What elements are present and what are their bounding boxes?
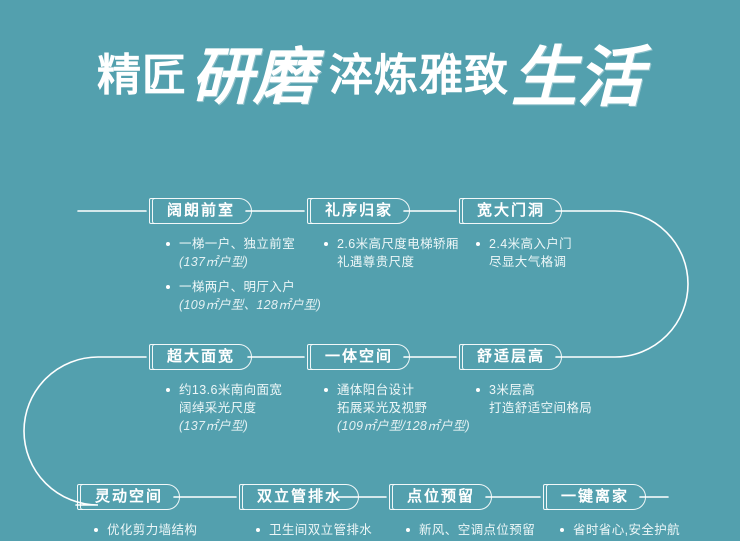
bullet-main: 优化剪力墙结构 [107, 523, 197, 537]
feature-title-chip[interactable]: 阔朗前室 [152, 198, 252, 224]
feature-bullet-list: 约13.6米南向面宽 阔绰采光尺度 (137㎡户型) [166, 381, 282, 435]
list-item: 一梯一户、独立前室 (137㎡户型) [166, 235, 321, 271]
bullet-line2: 打造舒适空间格局 [489, 399, 592, 417]
feature-title-chip[interactable]: 超大面宽 [152, 344, 252, 370]
feature-bullet-list: 卫生间双立管排水 有效防止异味 [256, 521, 372, 541]
feature-bullet-list: 2.4米高入户门 尽显大气格调 [476, 235, 572, 271]
list-item: 一梯两户、明厅入户 (109㎡户型、128㎡户型) [166, 278, 321, 314]
bullet-line2: 礼遇尊贵尺度 [337, 253, 459, 271]
list-item: 2.4米高入户门 尽显大气格调 [476, 235, 572, 271]
headline-segment-1: 精匠 [97, 54, 187, 98]
list-item: 3米层高 打造舒适空间格局 [476, 381, 592, 417]
bullet-main: 卫生间双立管排水 [269, 523, 372, 537]
bullet-line2: 拓展采光及视野 [337, 399, 470, 417]
bullet-main: 2.6米高尺度电梯轿厢 [337, 237, 459, 251]
bullet-main: 3米层高 [489, 383, 535, 397]
feature-bullet-list: 优化剪力墙结构 实现空间多变 [94, 521, 197, 541]
feature-cell-chaodamiankuan[interactable]: 超大面宽 约13.6米南向面宽 阔绰采光尺度 (137㎡户型) [152, 344, 282, 442]
feature-title-chip[interactable]: 一键离家 [546, 484, 646, 510]
list-item: 省时省心,安全护航 [560, 521, 680, 539]
bullet-line2: 尽显大气格调 [489, 253, 572, 271]
bullet-sub: (137㎡户型) [179, 253, 321, 271]
bullet-main: 省时省心,安全护航 [573, 523, 680, 537]
feature-title-chip[interactable]: 双立管排水 [242, 484, 359, 510]
feature-cell-lixuguijia[interactable]: 礼序归家 2.6米高尺度电梯轿厢 礼遇尊贵尺度 [310, 198, 459, 278]
bullet-sub: (109㎡户型/128㎡户型) [337, 417, 470, 435]
feature-title-chip[interactable]: 宽大门洞 [462, 198, 562, 224]
headline-segment-2: 研磨 [191, 47, 315, 109]
feature-bullet-list: 省时省心,安全护航 [560, 521, 680, 539]
list-item: 新风、空调点位预留 便于后期装修 [406, 521, 535, 541]
feature-title-chip[interactable]: 礼序归家 [310, 198, 410, 224]
feature-cell-yijianlijia[interactable]: 一键离家 省时省心,安全护航 [546, 484, 680, 541]
bullet-line2: 阔绰采光尺度 [179, 399, 282, 417]
bullet-sub: (109㎡户型、128㎡户型) [179, 296, 321, 314]
feature-bullet-list: 2.6米高尺度电梯轿厢 礼遇尊贵尺度 [324, 235, 459, 271]
list-item: 2.6米高尺度电梯轿厢 礼遇尊贵尺度 [324, 235, 459, 271]
feature-cell-kuolangqianshi[interactable]: 阔朗前室 一梯一户、独立前室 (137㎡户型) 一梯两户、明厅入户 (109㎡户… [152, 198, 321, 321]
list-item: 约13.6米南向面宽 阔绰采光尺度 (137㎡户型) [166, 381, 282, 435]
list-item: 卫生间双立管排水 有效防止异味 [256, 521, 372, 541]
page-title: 精匠研磨淬炼雅致生活 [0, 36, 740, 132]
feature-cell-kuandamendong[interactable]: 宽大门洞 2.4米高入户门 尽显大气格调 [462, 198, 572, 278]
bullet-sub: (137㎡户型) [179, 417, 282, 435]
poster-canvas: 精匠研磨淬炼雅致生活 阔朗前室 一梯一户、独立前室 [0, 0, 740, 541]
bullet-main: 约13.6米南向面宽 [179, 383, 282, 397]
bullet-main: 通体阳台设计 [337, 383, 414, 397]
feature-title-chip[interactable]: 点位预留 [392, 484, 492, 510]
feature-bullet-list: 新风、空调点位预留 便于后期装修 [406, 521, 535, 541]
feature-cell-shushicenggao[interactable]: 舒适层高 3米层高 打造舒适空间格局 [462, 344, 592, 424]
feature-cell-dianweiyuliu[interactable]: 点位预留 新风、空调点位预留 便于后期装修 [392, 484, 535, 541]
connector-left-uturn [24, 357, 146, 505]
headline-segment-4: 生活 [511, 44, 643, 110]
feature-title-chip[interactable]: 舒适层高 [462, 344, 562, 370]
feature-bullet-list: 通体阳台设计 拓展采光及视野 (109㎡户型/128㎡户型) [324, 381, 470, 435]
feature-cell-lingdongkongjian[interactable]: 灵动空间 优化剪力墙结构 实现空间多变 [80, 484, 197, 541]
feature-bullet-list: 3米层高 打造舒适空间格局 [476, 381, 592, 417]
bullet-main: 新风、空调点位预留 [419, 523, 535, 537]
feature-cell-yitikongjian[interactable]: 一体空间 通体阳台设计 拓展采光及视野 (109㎡户型/128㎡户型) [310, 344, 470, 442]
feature-bullet-list: 一梯一户、独立前室 (137㎡户型) 一梯两户、明厅入户 (109㎡户型、128… [166, 235, 321, 314]
feature-title-chip[interactable]: 灵动空间 [80, 484, 180, 510]
list-item: 优化剪力墙结构 实现空间多变 [94, 521, 197, 541]
headline-segment-3: 淬炼雅致 [329, 54, 509, 98]
feature-title-chip[interactable]: 一体空间 [310, 344, 410, 370]
list-item: 通体阳台设计 拓展采光及视野 (109㎡户型/128㎡户型) [324, 381, 470, 435]
connector-right-uturn [556, 211, 688, 357]
bullet-main: 2.4米高入户门 [489, 237, 572, 251]
bullet-main: 一梯两户、明厅入户 [179, 280, 295, 294]
feature-cell-shuangliguanpaishui[interactable]: 双立管排水 卫生间双立管排水 有效防止异味 [242, 484, 372, 541]
bullet-main: 一梯一户、独立前室 [179, 237, 295, 251]
